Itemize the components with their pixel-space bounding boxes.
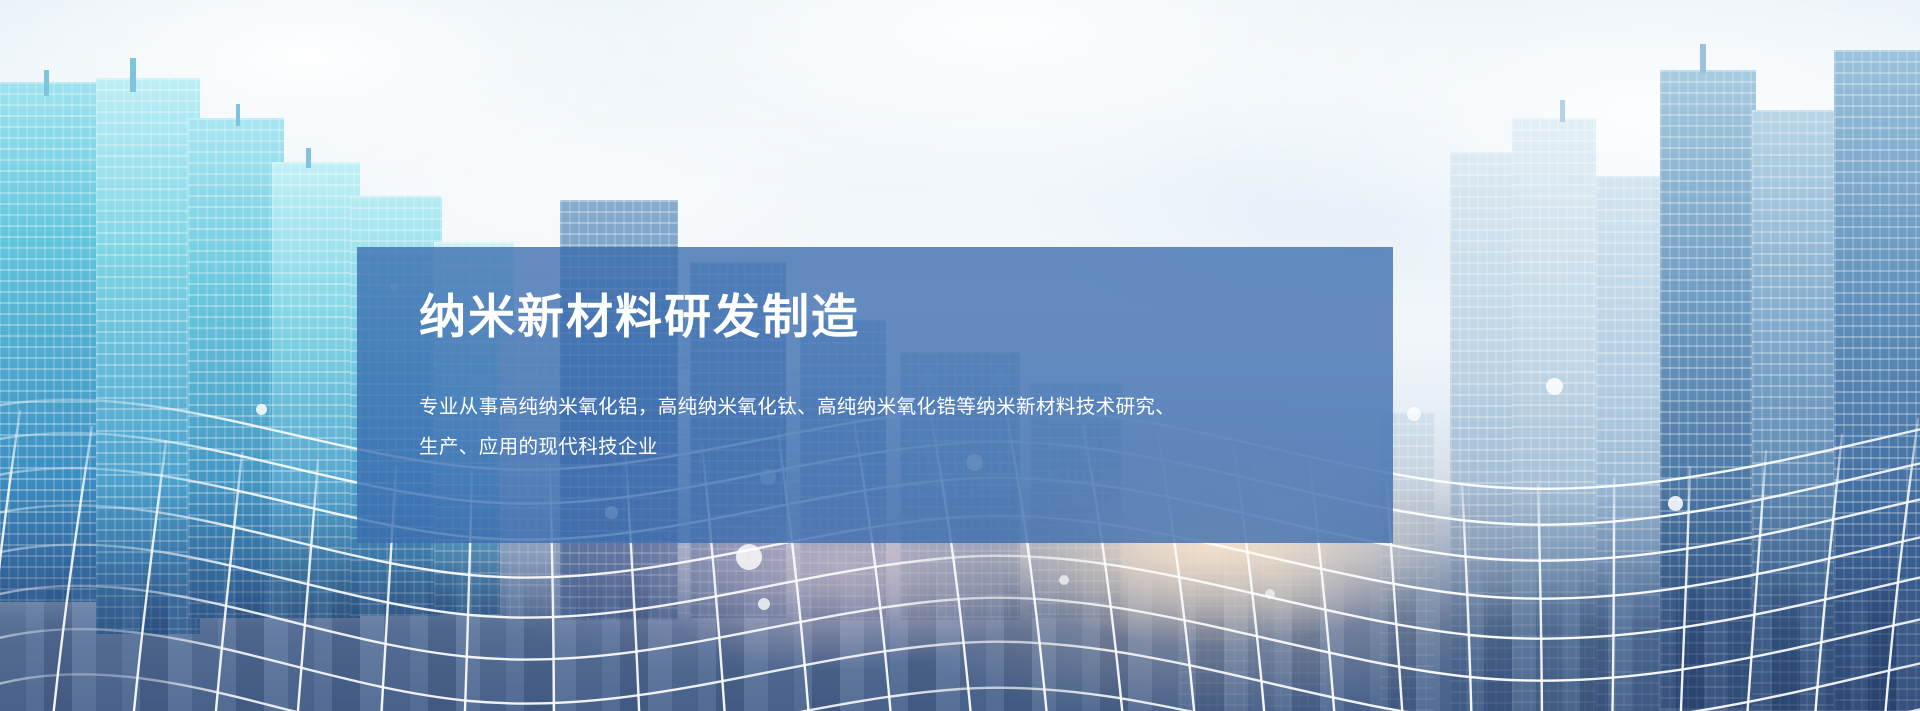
antenna-icon bbox=[44, 70, 49, 96]
antenna-icon bbox=[130, 58, 136, 92]
page-subtitle-line-2: 生产、应用的现代科技企业 bbox=[419, 427, 1219, 467]
foreground-lowrise bbox=[0, 561, 1920, 711]
page-subtitle: 专业从事高纯纳米氧化铝，高纯纳米氧化钛、高纯纳米氧化锆等纳米新材料技术研究、 生… bbox=[419, 343, 1219, 467]
page-title: 纳米新材料研发制造 bbox=[419, 291, 1333, 343]
hero-content-panel: 纳米新材料研发制造 专业从事高纯纳米氧化铝，高纯纳米氧化钛、高纯纳米氧化锆等纳米… bbox=[357, 247, 1393, 543]
antenna-icon bbox=[236, 104, 240, 126]
page-subtitle-line-1: 专业从事高纯纳米氧化铝，高纯纳米氧化钛、高纯纳米氧化锆等纳米新材料技术研究、 bbox=[419, 387, 1219, 427]
antenna-icon bbox=[1700, 44, 1706, 74]
antenna-icon bbox=[1560, 100, 1565, 122]
antenna-icon bbox=[306, 148, 311, 168]
hero-banner: 纳米新材料研发制造 专业从事高纯纳米氧化铝，高纯纳米氧化钛、高纯纳米氧化锆等纳米… bbox=[0, 0, 1920, 711]
